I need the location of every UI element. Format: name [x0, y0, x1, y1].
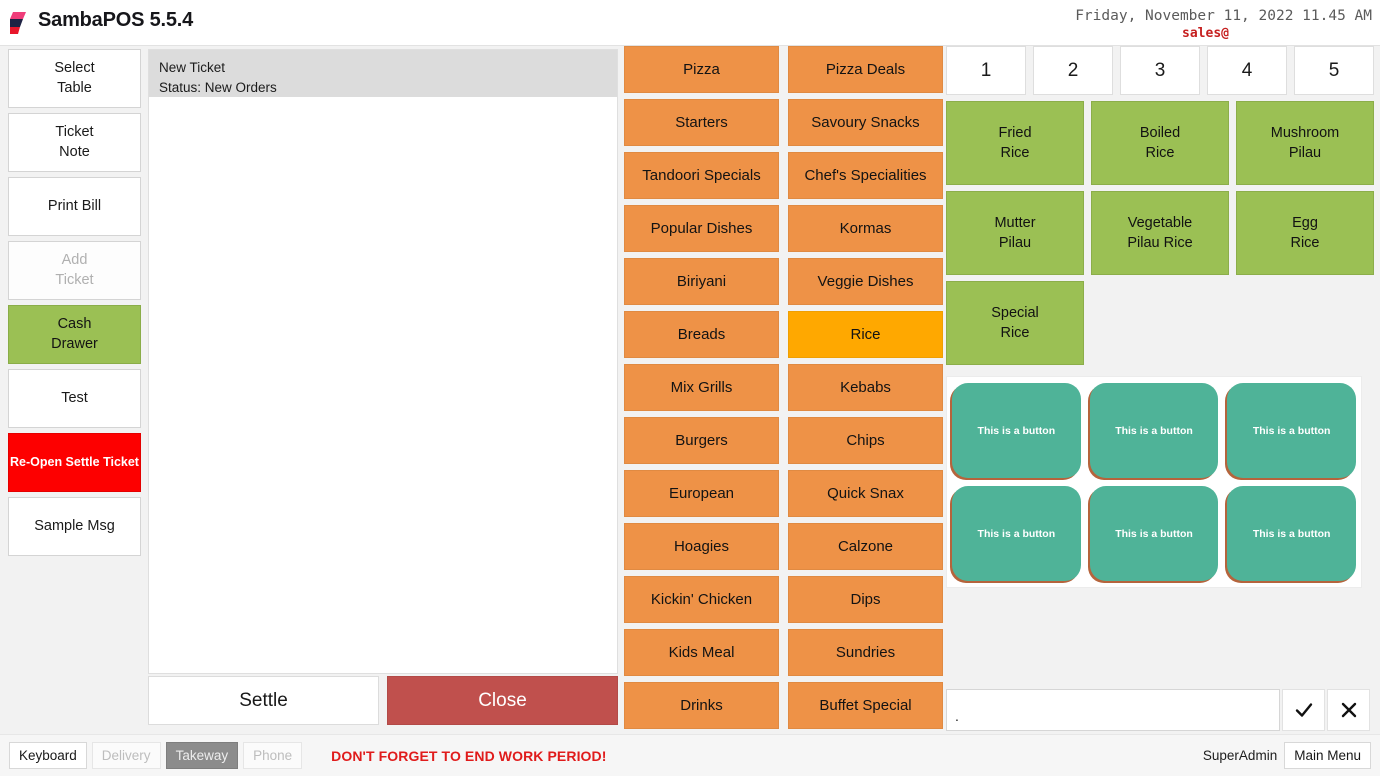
category-button-quick-snax[interactable]: Quick Snax — [788, 470, 943, 517]
category-button-dips[interactable]: Dips — [788, 576, 943, 623]
custom-button-6[interactable]: This is a button — [1227, 486, 1356, 581]
ticket-title: New Ticket — [159, 58, 607, 78]
sambapos-window: SambaPOS 5.5.4 Friday, November 11, 2022… — [0, 0, 1380, 776]
ticket-action-bar: Settle Close — [148, 676, 618, 725]
ticket-panel: New Ticket Status: New Orders — [148, 49, 618, 674]
category-button-savoury-snacks[interactable]: Savoury Snacks — [788, 99, 943, 146]
close-button[interactable]: Close — [387, 676, 618, 725]
work-period-warning: DON'T FORGET TO END WORK PERIOD! — [331, 748, 606, 764]
product-button-fried-rice[interactable]: FriedRice — [946, 101, 1084, 185]
quantity-button-3[interactable]: 3 — [1120, 46, 1200, 95]
command-button-print-bill[interactable]: Print Bill — [8, 177, 141, 236]
category-button-pizza-deals[interactable]: Pizza Deals — [788, 46, 943, 93]
command-button-cash-drawer[interactable]: CashDrawer — [8, 305, 141, 364]
quantity-row: 12345 — [946, 46, 1374, 95]
product-slot-empty — [1091, 281, 1229, 365]
product-grid: FriedRiceBoiledRiceMushroomPilauMutterPi… — [946, 101, 1374, 365]
close-x-icon[interactable] — [1327, 689, 1370, 731]
statusbar-button-takeway[interactable]: Takeway — [166, 742, 239, 769]
category-button-veggie-dishes[interactable]: Veggie Dishes — [788, 258, 943, 305]
quantity-button-5[interactable]: 5 — [1294, 46, 1374, 95]
statusbar-button-delivery: Delivery — [92, 742, 161, 769]
category-button-biriyani[interactable]: Biriyani — [624, 258, 779, 305]
category-button-rice[interactable]: Rice — [788, 311, 943, 358]
category-button-drinks[interactable]: Drinks — [624, 682, 779, 729]
command-sidebar: SelectTableTicketNotePrint BillAddTicket… — [8, 49, 141, 556]
statusbar-button-phone: Phone — [243, 742, 302, 769]
check-icon[interactable] — [1282, 689, 1325, 731]
product-button-vegetable-pilau-rice[interactable]: VegetablePilau Rice — [1091, 191, 1229, 275]
category-button-pizza[interactable]: Pizza — [624, 46, 779, 93]
category-button-mix-grills[interactable]: Mix Grills — [624, 364, 779, 411]
category-button-kickin-chicken[interactable]: Kickin' Chicken — [624, 576, 779, 623]
category-button-hoagies[interactable]: Hoagies — [624, 523, 779, 570]
ticket-order-list[interactable] — [149, 97, 617, 673]
category-button-calzone[interactable]: Calzone — [788, 523, 943, 570]
category-button-buffet-special[interactable]: Buffet Special — [788, 682, 943, 729]
product-button-boiled-rice[interactable]: BoiledRice — [1091, 101, 1229, 185]
settle-button[interactable]: Settle — [148, 676, 379, 725]
status-bar-right: SuperAdmin Main Menu — [1203, 742, 1371, 769]
category-button-european[interactable]: European — [624, 470, 779, 517]
custom-button-5[interactable]: This is a button — [1090, 486, 1219, 581]
command-button-ticket-note[interactable]: TicketNote — [8, 113, 141, 172]
product-panel: 12345 FriedRiceBoiledRiceMushroomPilauMu… — [946, 46, 1374, 728]
quantity-button-2[interactable]: 2 — [1033, 46, 1113, 95]
product-button-special-rice[interactable]: SpecialRice — [946, 281, 1084, 365]
custom-button-1[interactable]: This is a button — [952, 383, 1081, 478]
status-bar: KeyboardDeliveryTakewayPhone DON'T FORGE… — [0, 734, 1380, 776]
command-button-test[interactable]: Test — [8, 369, 141, 428]
category-button-tandoori-specials[interactable]: Tandoori Specials — [624, 152, 779, 199]
product-slot-empty — [1236, 281, 1374, 365]
quantity-button-1[interactable]: 1 — [946, 46, 1026, 95]
quantity-button-4[interactable]: 4 — [1207, 46, 1287, 95]
search-row: . — [946, 689, 1374, 731]
category-button-burgers[interactable]: Burgers — [624, 417, 779, 464]
command-button-sample-msg[interactable]: Sample Msg — [8, 497, 141, 556]
statusbar-button-keyboard[interactable]: Keyboard — [9, 742, 87, 769]
category-button-sundries[interactable]: Sundries — [788, 629, 943, 676]
product-button-mushroom-pilau[interactable]: MushroomPilau — [1236, 101, 1374, 185]
ticket-header: New Ticket Status: New Orders — [149, 50, 617, 97]
category-button-popular-dishes[interactable]: Popular Dishes — [624, 205, 779, 252]
sambapos-flag-logo-icon — [7, 9, 35, 37]
category-button-kebabs[interactable]: Kebabs — [788, 364, 943, 411]
category-panel: PizzaPizza DealsStartersSavoury SnacksTa… — [624, 46, 944, 732]
category-button-chef-s-specialities[interactable]: Chef's Specialities — [788, 152, 943, 199]
custom-button-4[interactable]: This is a button — [952, 486, 1081, 581]
product-button-egg-rice[interactable]: EggRice — [1236, 191, 1374, 275]
search-input[interactable]: . — [946, 689, 1280, 731]
title-bar: SambaPOS 5.5.4 Friday, November 11, 2022… — [0, 0, 1380, 46]
custom-button-block: This is a buttonThis is a buttonThis is … — [946, 376, 1362, 588]
ticket-status: Status: New Orders — [159, 78, 607, 98]
logged-in-user-email: sales@ — [1032, 26, 1229, 41]
category-button-breads[interactable]: Breads — [624, 311, 779, 358]
current-datetime: Friday, November 11, 2022 11.45 AM — [1032, 8, 1372, 24]
command-button-add-ticket: AddTicket — [8, 241, 141, 300]
category-button-kids-meal[interactable]: Kids Meal — [624, 629, 779, 676]
current-user-label: SuperAdmin — [1203, 748, 1277, 763]
clock-area: Friday, November 11, 2022 11.45 AM sales… — [1032, 8, 1372, 41]
main-menu-button[interactable]: Main Menu — [1284, 742, 1371, 769]
app-title: SambaPOS 5.5.4 — [38, 9, 193, 32]
command-button-re-open-settle-ticket[interactable]: Re-Open Settle Ticket — [8, 433, 141, 492]
product-button-mutter-pilau[interactable]: MutterPilau — [946, 191, 1084, 275]
category-button-chips[interactable]: Chips — [788, 417, 943, 464]
category-button-starters[interactable]: Starters — [624, 99, 779, 146]
category-button-kormas[interactable]: Kormas — [788, 205, 943, 252]
command-button-select-table[interactable]: SelectTable — [8, 49, 141, 108]
custom-button-2[interactable]: This is a button — [1090, 383, 1219, 478]
custom-button-3[interactable]: This is a button — [1227, 383, 1356, 478]
status-bar-buttons: KeyboardDeliveryTakewayPhone — [9, 742, 302, 769]
